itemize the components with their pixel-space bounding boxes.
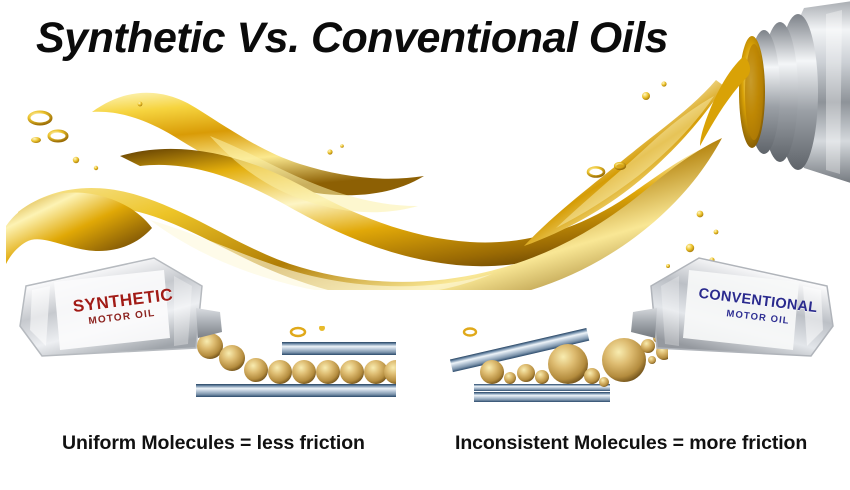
- molecule: [584, 368, 600, 384]
- bottle-spout: [196, 308, 222, 338]
- oil-bottle-pouring: [700, 0, 850, 190]
- molecule: [384, 360, 396, 384]
- molecule: [244, 358, 268, 382]
- molecule: [268, 360, 292, 384]
- page-title: Synthetic Vs. Conventional Oils: [36, 14, 668, 63]
- molecule: [480, 360, 504, 384]
- bottom-plate-upper: [474, 384, 610, 391]
- molecule: [504, 372, 516, 384]
- molecule: [599, 377, 609, 387]
- bottom-plate: [196, 384, 396, 397]
- molecule: [548, 344, 588, 384]
- molecule: [316, 360, 340, 384]
- molecule: [292, 360, 316, 384]
- infographic-canvas: SYNTHETIC MOTOR OIL CONVENTIONAL MOTOR O…: [0, 0, 850, 490]
- molecule: [535, 370, 549, 384]
- oil-droplet: [319, 326, 325, 331]
- bottom-plate: [474, 392, 610, 402]
- top-plate: [282, 342, 396, 355]
- bottle-spout: [631, 308, 657, 338]
- molecule: [517, 364, 535, 382]
- molecule: [340, 360, 364, 384]
- caption-uniform-molecules: Uniform Molecules = less friction: [62, 432, 365, 455]
- oil-droplet: [464, 329, 476, 336]
- caption-inconsistent-molecules: Inconsistent Molecules = more friction: [455, 432, 807, 455]
- oil-droplet: [291, 328, 305, 336]
- bottle-mouth-inner: [745, 44, 763, 140]
- bottle-highlight: [826, 10, 842, 174]
